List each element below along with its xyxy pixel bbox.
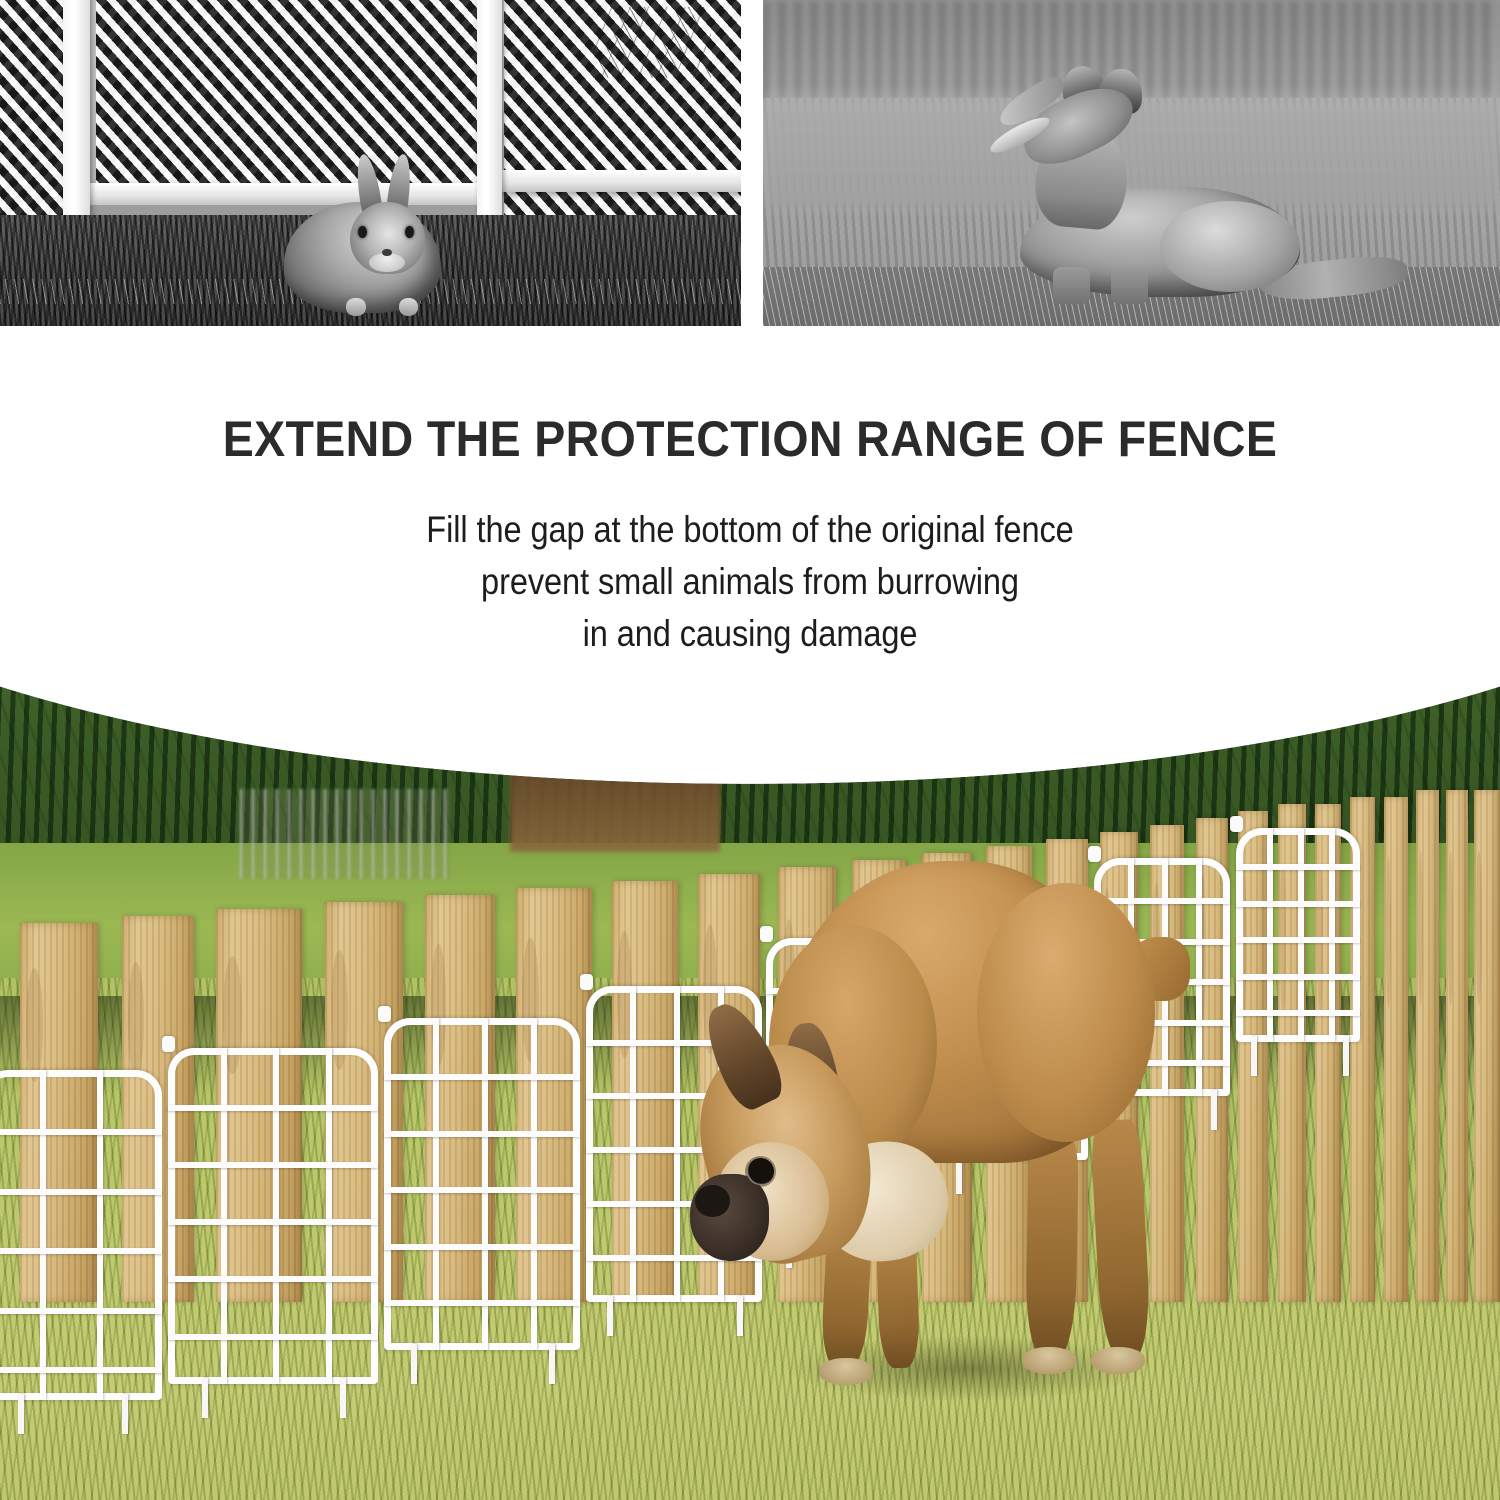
panel-horizontal-wire <box>168 1219 378 1225</box>
dog-paw <box>1091 1347 1145 1374</box>
wire-fence-barrier-in-use-photo <box>0 600 1500 1500</box>
panel-ground-stake <box>549 1344 555 1384</box>
panel-horizontal-wire <box>1236 864 1360 870</box>
panel-vertical-wire <box>40 1070 46 1400</box>
wire-fence-panel[interactable] <box>384 1018 580 1350</box>
panel-ground-stake <box>607 1296 613 1336</box>
panel-ground-stake <box>1343 1036 1349 1076</box>
panel-horizontal-wire <box>384 1244 580 1250</box>
fox-foreleg <box>1053 267 1090 304</box>
rabbit-paw <box>346 298 366 316</box>
panel-connector-clip <box>162 1036 175 1052</box>
panel-horizontal-wire <box>384 1074 580 1080</box>
fox-foreleg <box>1111 267 1148 304</box>
rabbit-nose <box>382 249 392 256</box>
lattice-fence-scene <box>0 0 741 326</box>
fence-post <box>63 0 90 248</box>
top-photo-gallery <box>0 0 1500 326</box>
lawn-scene <box>763 0 1500 326</box>
subheadline-line-1: Fill the gap at the bottom of the origin… <box>90 504 1410 556</box>
panel-horizontal-wire <box>384 1131 580 1137</box>
panel-horizontal-wire <box>0 1189 162 1195</box>
panel-horizontal-wire <box>1236 974 1360 980</box>
fox <box>962 68 1375 296</box>
panel-horizontal-wire <box>168 1334 378 1340</box>
dog-rump <box>977 883 1155 1142</box>
climbing-vine <box>593 7 712 79</box>
panel-connector-clip <box>580 974 593 990</box>
headline: EXTEND THE PROTECTION RANGE OF FENCE <box>53 414 1448 464</box>
panel-ground-stake <box>1251 1036 1257 1076</box>
panel-horizontal-wire <box>0 1129 162 1135</box>
panel-horizontal-wire <box>0 1308 162 1314</box>
panel-ground-stake <box>122 1394 128 1434</box>
fox-haunch <box>1160 201 1300 292</box>
fence-picket <box>1384 797 1408 1302</box>
wire-fence-panel[interactable] <box>0 1070 162 1400</box>
product-infographic: EXTEND THE PROTECTION RANGE OF FENCE Fil… <box>0 0 1500 1500</box>
dog-nose <box>695 1185 730 1217</box>
panel-ground-stake <box>1211 1090 1217 1130</box>
rabbit-eye <box>405 226 414 238</box>
panel-vertical-wire <box>97 1070 103 1400</box>
panel-horizontal-wire <box>168 1105 378 1111</box>
dog-paw <box>1022 1347 1076 1374</box>
panel-ground-stake <box>18 1394 24 1434</box>
panel-horizontal-wire <box>384 1187 580 1193</box>
panel-connector-clip <box>1088 846 1101 862</box>
panel-ground-stake <box>411 1344 417 1384</box>
dog-paw <box>819 1358 873 1385</box>
wire-fence-panel[interactable] <box>1236 828 1360 1042</box>
fence-bottom-rail <box>500 170 741 193</box>
panel-horizontal-wire <box>1236 901 1360 907</box>
panel-ground-stake <box>340 1378 346 1418</box>
panel-frame <box>0 1070 162 1400</box>
fence-picket <box>1446 790 1468 1302</box>
rabbit-eye <box>358 226 367 238</box>
panel-connector-clip <box>1230 816 1243 832</box>
french-bulldog <box>690 861 1185 1401</box>
dog-hind-leg <box>1025 1131 1078 1359</box>
rabbit <box>278 163 441 313</box>
wire-fence-panel[interactable] <box>168 1048 378 1384</box>
panel-connector-clip <box>378 1006 391 1022</box>
panel-horizontal-wire <box>1236 1010 1360 1016</box>
dog-hind-leg <box>1090 1119 1152 1359</box>
panel-horizontal-wire <box>0 1248 162 1254</box>
panel-horizontal-wire <box>384 1300 580 1306</box>
rabbit-paw <box>399 298 419 316</box>
fence-picket <box>1474 790 1500 1302</box>
panel-ground-stake <box>202 1378 208 1418</box>
rabbit-at-lattice-fence-photo <box>0 0 741 326</box>
hero-photo-wrapper <box>0 600 1500 1500</box>
fox-lying-on-lawn-photo <box>763 0 1500 326</box>
panel-horizontal-wire <box>1236 937 1360 943</box>
panel-horizontal-wire <box>168 1276 378 1282</box>
panel-horizontal-wire <box>168 1162 378 1168</box>
fence-picket <box>1416 790 1439 1302</box>
panel-horizontal-wire <box>0 1367 162 1373</box>
dog-eye <box>747 1158 774 1185</box>
fence-post <box>477 0 502 248</box>
